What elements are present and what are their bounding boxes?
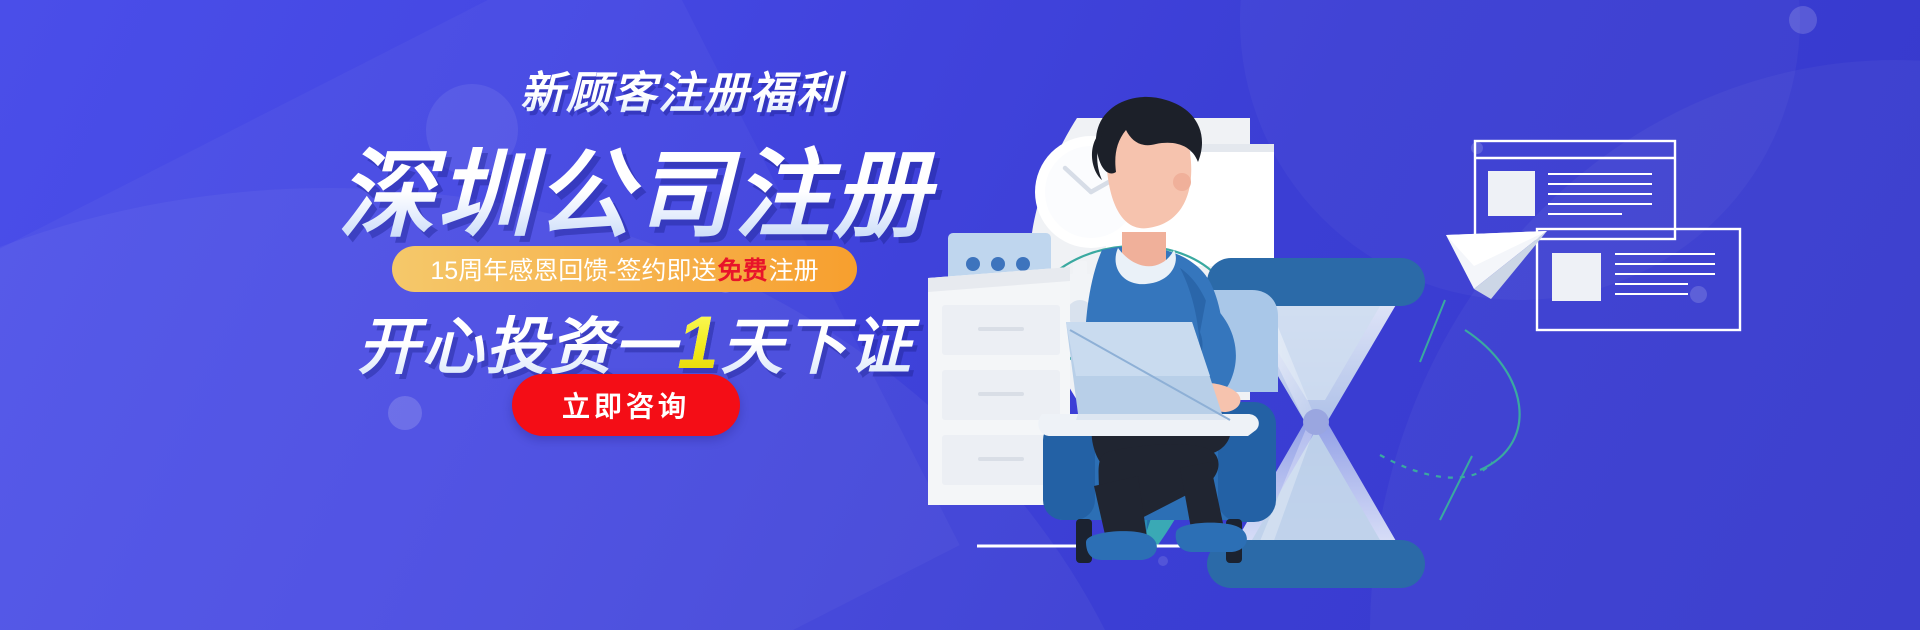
promo-prefix: 15周年感恩回馈-签约即送: [430, 251, 716, 287]
promo-suffix: 注册: [769, 251, 819, 287]
document-lines: [1615, 254, 1715, 294]
document-thumb: [1488, 171, 1535, 216]
promo-highlight: 免费: [717, 251, 769, 287]
document-thumb: [1552, 253, 1601, 301]
page-title: 深圳公司注册: [330, 140, 940, 252]
slogan-number: 1: [677, 301, 720, 384]
illustration: [880, 0, 1920, 630]
consult-now-button[interactable]: 立即咨询: [512, 374, 740, 436]
slogan-suffix: 天下证: [721, 313, 913, 382]
banner-copy: 新顾客注册福利 深圳公司注册 15周年感恩回馈-签约即送免费注册 开心投资一1天…: [0, 0, 1000, 630]
paper-plane-icon: [1446, 231, 1547, 299]
kicker-text: 新顾客注册福利: [446, 66, 916, 122]
slogan-text: 开心投资一1天下证: [330, 305, 940, 381]
promo-badge: 15周年感恩回馈-签约即送免费注册: [392, 246, 857, 292]
slogan-prefix: 开心投资一: [357, 313, 677, 382]
promo-banner: 新顾客注册福利 深圳公司注册 15周年感恩回馈-签约即送免费注册 开心投资一1天…: [0, 0, 1920, 630]
document-lines: [1548, 174, 1652, 214]
